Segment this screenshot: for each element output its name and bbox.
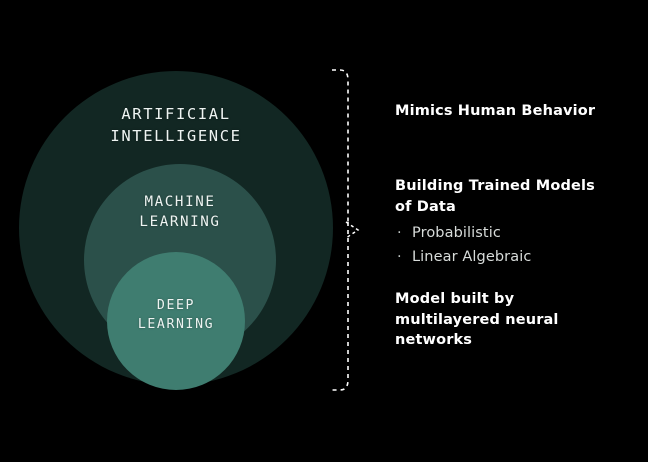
note-building-trained-models: Building Trained Models of Data · Probab…	[395, 176, 595, 269]
note-bullet-list: · Probabilistic · Linear Algebraic	[395, 222, 595, 269]
bracket-arrow-icon	[346, 222, 358, 238]
bracket-upper-path	[332, 70, 348, 222]
diagram-canvas: ARTIFICIAL INTELLIGENCE MACHINE LEARNING…	[0, 0, 648, 462]
note-model-built-by: Model built by multilayered neural netwo…	[395, 289, 559, 351]
note-heading-building: Building Trained Models of Data	[395, 176, 595, 217]
circle-label-artificial-intelligence: ARTIFICIAL INTELLIGENCE	[19, 103, 333, 147]
bullet-label: Probabilistic	[412, 225, 501, 241]
bracket-lower-path	[332, 238, 348, 390]
dashed-bracket-connector	[326, 62, 374, 398]
note-heading-mimics: Mimics Human Behavior	[395, 101, 595, 122]
list-item: · Probabilistic	[412, 222, 595, 245]
bullet-dot-icon: ·	[397, 246, 402, 269]
bullet-label: Linear Algebraic	[412, 249, 531, 265]
note-heading-model: Model built by multilayered neural netwo…	[395, 289, 559, 351]
bullet-dot-icon: ·	[397, 222, 402, 245]
circle-label-deep-learning: DEEP LEARNING	[107, 297, 245, 334]
note-mimics-human-behavior: Mimics Human Behavior	[395, 101, 595, 122]
circle-label-machine-learning: MACHINE LEARNING	[84, 192, 276, 232]
list-item: · Linear Algebraic	[412, 246, 595, 269]
